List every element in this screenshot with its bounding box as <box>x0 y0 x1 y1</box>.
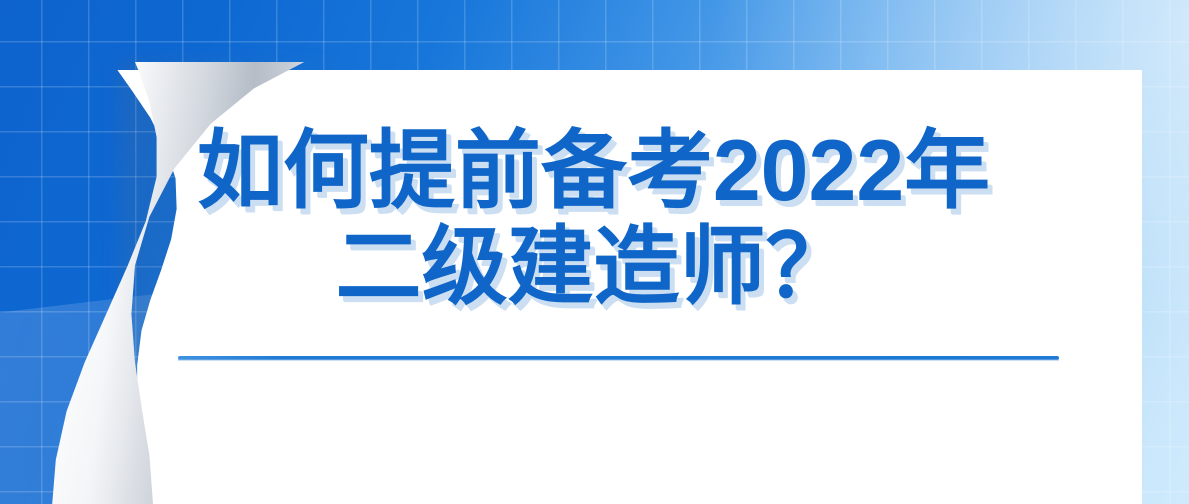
banner-title-line-1: 如何提前备考2022年 <box>45 124 1142 218</box>
promo-banner: 如何提前备考2022年 二级建造师？ <box>0 0 1189 504</box>
banner-title-line-2: 二级建造师？ <box>45 220 1142 314</box>
title-divider-rule <box>178 356 1059 360</box>
banner-title: 如何提前备考2022年 二级建造师？ <box>45 124 1142 314</box>
